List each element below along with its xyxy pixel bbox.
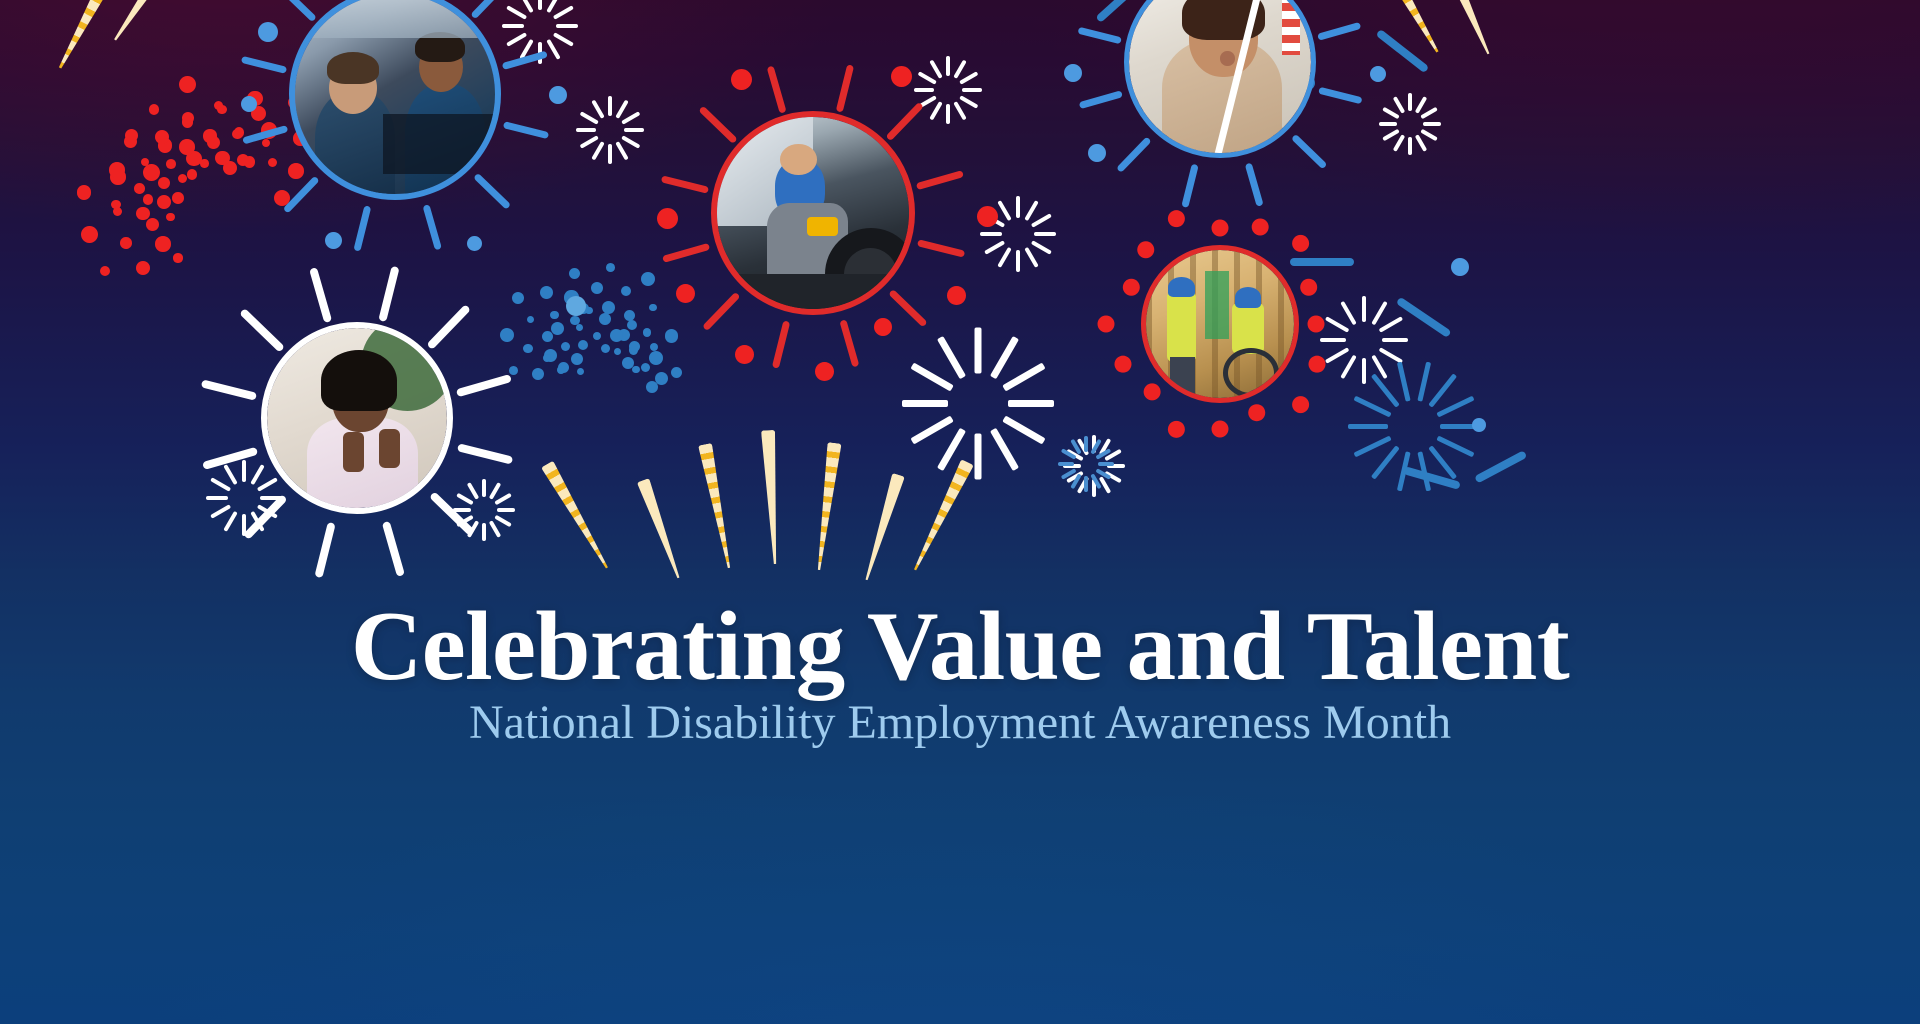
blue-dot-firework: [624, 310, 635, 321]
gold-sparkler-fan: [541, 461, 613, 572]
photo-woman-signing: [267, 328, 447, 508]
medallion-ring: [261, 322, 453, 514]
gold-sparkler: [109, 0, 182, 44]
blue-accent-dot: [1472, 418, 1486, 432]
blue-accent-dot: [566, 296, 586, 316]
blue-dot-firework: [610, 329, 623, 342]
red-dot-firework: [172, 192, 184, 204]
photo-office-collaboration: [295, 0, 495, 194]
medallion-construction-site: [1141, 245, 1299, 403]
red-dot-firework: [136, 261, 150, 275]
red-dot-firework: [146, 218, 159, 231]
medallion-ring: [1141, 245, 1299, 403]
blue-dot-firework: [601, 344, 610, 353]
blue-dot-firework: [578, 340, 588, 350]
blue-dot-firework: [622, 357, 634, 369]
red-dot-firework: [203, 129, 216, 142]
red-dot-firework: [157, 195, 171, 209]
blue-dot-firework: [614, 348, 621, 355]
red-dot-firework: [155, 236, 171, 252]
medallion-office-collaboration: [289, 0, 501, 200]
red-dot-firework: [166, 159, 176, 169]
photo-auto-technician: [717, 117, 909, 309]
blue-dot-firework: [527, 316, 535, 324]
blue-dot-firework: [558, 362, 569, 373]
red-dot-firework: [109, 162, 125, 178]
red-dot-firework: [155, 130, 169, 144]
red-dot-firework: [158, 177, 170, 189]
gold-sparkler-fan: [637, 478, 685, 580]
red-dot-firework: [100, 266, 110, 276]
blue-dot-firework: [632, 366, 640, 374]
blue-dot-firework: [571, 353, 583, 365]
blue-dot-firework: [606, 263, 615, 272]
blue-dot-firework: [576, 324, 583, 331]
blue-dot-firework: [593, 332, 601, 340]
medallion-auto-technician: [711, 111, 915, 315]
blue-dot-firework: [621, 286, 631, 296]
red-dot-firework: [178, 174, 187, 183]
red-dot-firework: [187, 169, 198, 180]
photo-professional-portrait: [1129, 0, 1311, 153]
medallion-ring: [289, 0, 501, 200]
blue-ray-bar: [1396, 297, 1452, 338]
red-dot-firework: [120, 237, 132, 249]
gold-sparkler-fan: [812, 442, 841, 571]
red-dot-firework: [200, 159, 208, 167]
blue-dot-firework: [532, 368, 544, 380]
blue-dot-firework: [599, 313, 611, 325]
red-dot-firework: [111, 200, 121, 210]
blue-ray-bar: [1474, 450, 1527, 483]
gold-sparkler-fan: [761, 430, 782, 565]
blue-dot-firework: [561, 342, 570, 351]
red-dot-firework: [143, 194, 153, 204]
red-dot-firework: [166, 213, 174, 221]
gold-sparkler-fan: [698, 443, 736, 569]
blue-dot-firework: [591, 282, 603, 294]
red-dot-firework: [143, 164, 160, 181]
red-dot-firework: [149, 104, 159, 114]
blue-dot-firework: [577, 368, 584, 375]
blue-accent-dot: [1451, 258, 1469, 276]
red-dot-firework: [77, 185, 91, 199]
red-dot-firework: [173, 253, 182, 262]
medallion-ring: [711, 111, 915, 315]
page-title: Celebrating Value and Talent: [0, 597, 1920, 698]
medallion-woman-signing: [261, 322, 453, 514]
gold-sparkler: [1440, 0, 1494, 57]
blue-dot-firework: [629, 341, 640, 352]
blue-dot-firework: [540, 286, 553, 299]
red-dot-firework: [179, 76, 196, 93]
medallion-professional-portrait: [1124, 0, 1316, 158]
gold-sparkler-fan: [909, 459, 974, 573]
red-dot-firework: [136, 207, 149, 220]
ndeam-poster: Celebrating Value and Talent National Di…: [0, 0, 1920, 1024]
blue-dot-firework: [627, 320, 637, 330]
gold-sparkler-fan: [860, 473, 905, 582]
blue-dot-firework: [551, 322, 564, 335]
page-subtitle: National Disability Employment Awareness…: [0, 697, 1920, 750]
red-dot-firework: [179, 139, 195, 155]
red-dot-firework: [134, 183, 145, 194]
footer: AMERICA 250 ™ DEPARTMENT OF LABOR 🌫 OFFI…: [0, 904, 1920, 1024]
red-dot-firework: [81, 226, 98, 243]
photo-construction-site: [1146, 250, 1294, 398]
blue-dot-firework: [550, 311, 559, 320]
blue-dot-firework: [523, 344, 533, 354]
